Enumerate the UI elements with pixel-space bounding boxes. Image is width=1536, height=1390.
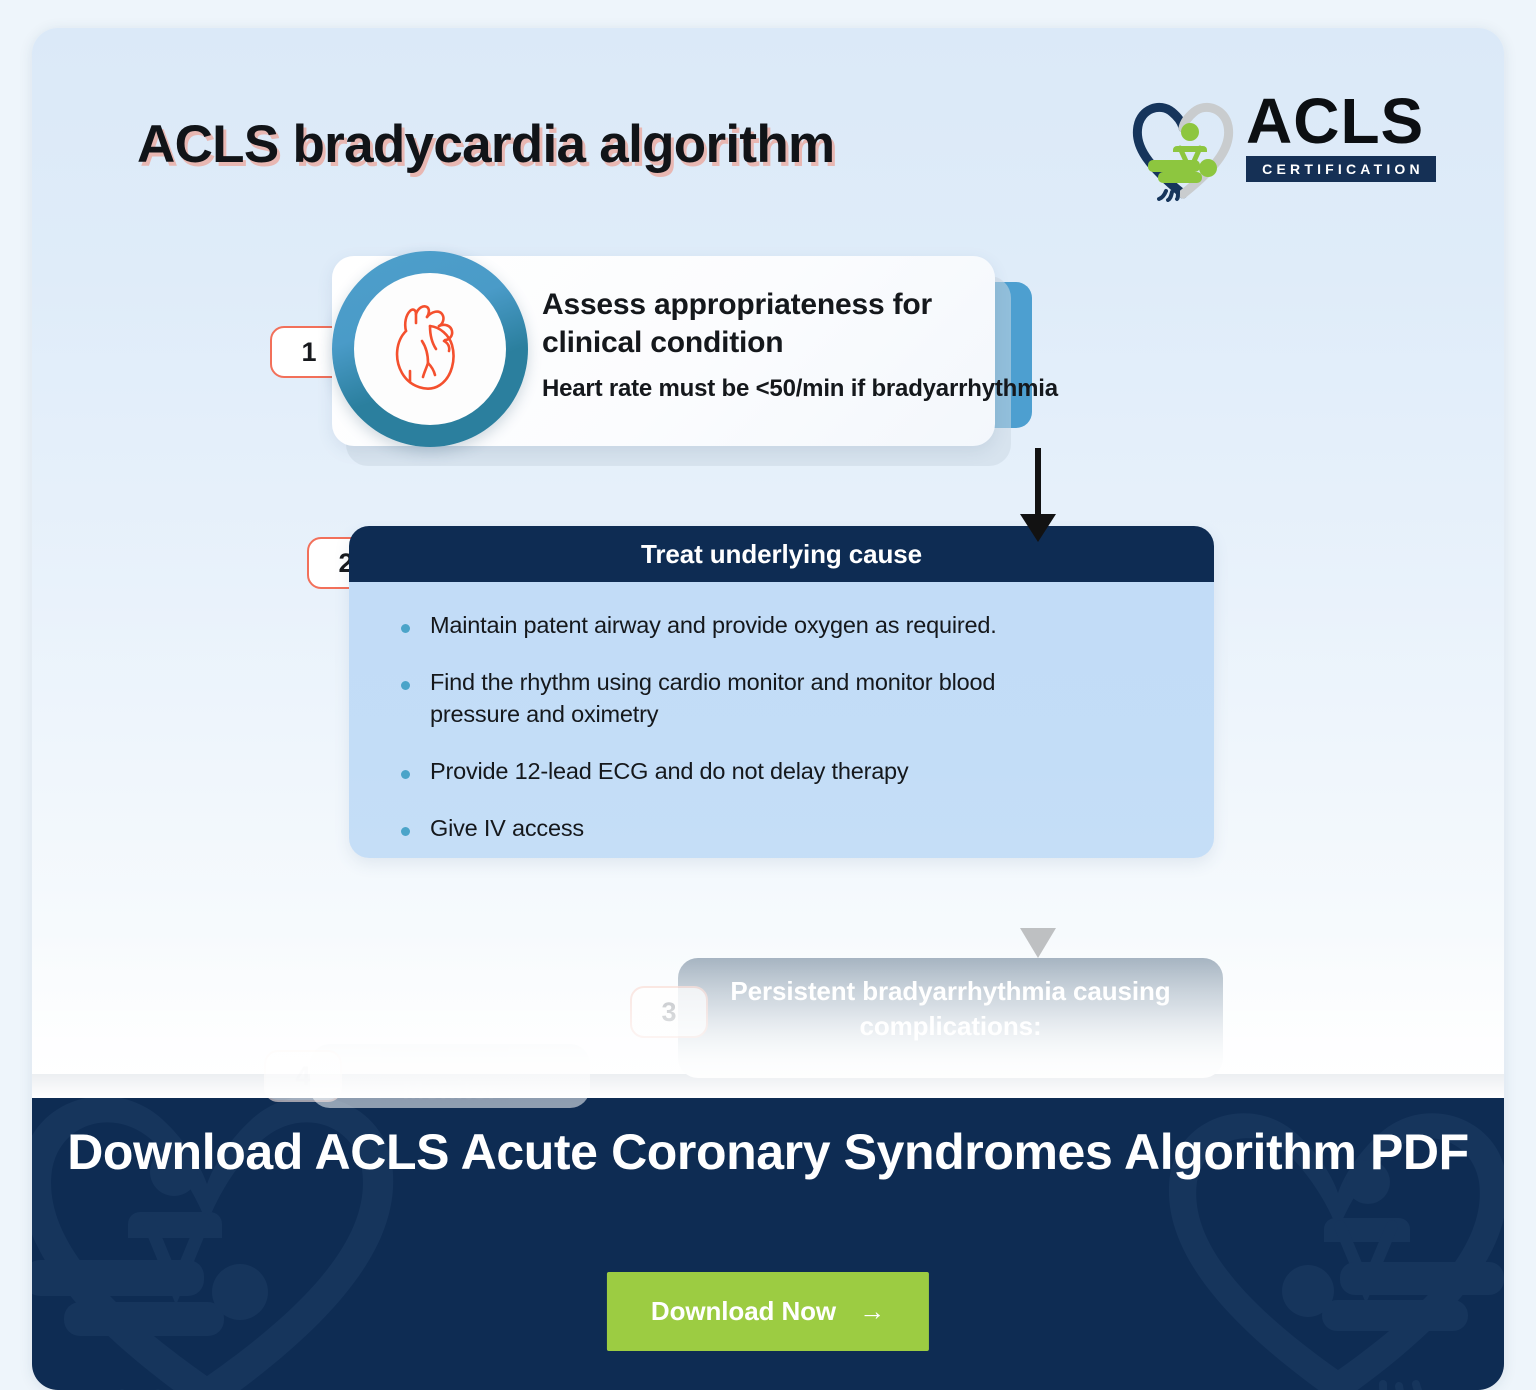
list-item: Provide 12-lead ECG and do not delay the… <box>349 756 1214 787</box>
logo-wordmark: ACLS CERTIFICATION <box>1246 92 1436 182</box>
anatomical-heart-icon <box>382 297 478 401</box>
step-4-card: Monitor <box>310 1044 590 1108</box>
step-1: 1 <box>270 256 1220 456</box>
step-4: 4 Monitor <box>264 1044 594 1114</box>
step-2-bullet-2: Find the rhythm using cardio monitor and… <box>430 667 1030 730</box>
arrow-step1-to-step2-icon <box>1016 448 1060 549</box>
acls-certification-logo: ACLS CERTIFICATION <box>1128 86 1434 208</box>
step-number-badge-4: 4 <box>264 1050 342 1102</box>
list-item: Find the rhythm using cardio monitor and… <box>349 667 1214 730</box>
logo-secondary-text: CERTIFICATION <box>1246 156 1436 182</box>
step-2-bullet-3: Provide 12-lead ECG and do not delay the… <box>430 756 908 787</box>
arrow-step2-to-step3-icon <box>1016 856 1060 965</box>
algorithm-card: ACLS bradycardia algorithm ACLS CERTIFIC <box>32 28 1504 1390</box>
step-2-card: Treat underlying cause Maintain patent a… <box>349 526 1214 858</box>
step-2-heading: Treat underlying cause <box>349 526 1214 582</box>
infographic-page: ACLS bradycardia algorithm ACLS CERTIFIC <box>0 0 1536 1390</box>
step-2-bullet-1: Maintain patent airway and provide oxyge… <box>430 610 997 641</box>
step-number-badge-3: 3 <box>630 986 708 1038</box>
download-cta-heading: Download ACLS Acute Coronary Syndromes A… <box>32 1122 1504 1183</box>
download-cta-banner: Download ACLS Acute Coronary Syndromes A… <box>32 1074 1504 1390</box>
step-1-text: Assess appropriateness for clinical cond… <box>542 286 972 403</box>
page-title: ACLS bradycardia algorithm <box>137 114 834 175</box>
bullet-dot-icon <box>401 681 410 690</box>
step-3-card: Persistent bradyarrhythmia causing compl… <box>678 958 1223 1078</box>
logo-primary-text: ACLS <box>1246 92 1436 151</box>
step-1-icon-circle <box>332 251 528 447</box>
bullet-dot-icon <box>401 770 410 779</box>
step-1-subtext: Heart rate must be <50/min if bradyarrhy… <box>542 375 972 403</box>
arrow-right-icon: → <box>859 1296 885 1326</box>
bullet-dot-icon <box>401 827 410 836</box>
step-1-heading: Assess appropriateness for clinical cond… <box>542 286 972 362</box>
heart-cpr-logo-icon <box>1128 90 1240 202</box>
list-item: Give IV access <box>349 813 1214 844</box>
step-3: 3 Persistent bradyarrhythmia causing com… <box>630 958 1230 1088</box>
step-2-bullet-4: Give IV access <box>430 813 584 844</box>
download-button-label: Download Now <box>651 1296 836 1326</box>
step-2: 2 Treat underlying cause Maintain patent… <box>307 526 1222 861</box>
bullet-dot-icon <box>401 624 410 633</box>
list-item: Maintain patent airway and provide oxyge… <box>349 610 1214 641</box>
step-2-bullet-list: Maintain patent airway and provide oxyge… <box>349 582 1214 858</box>
step-1-icon-circle-inner <box>354 273 506 425</box>
download-now-button[interactable]: Download Now → <box>607 1272 929 1351</box>
step-3-heading: Persistent bradyarrhythmia causing compl… <box>678 958 1223 1043</box>
